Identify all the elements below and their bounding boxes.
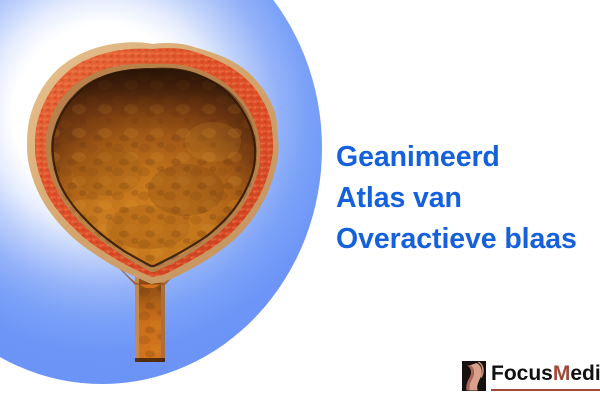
title-block: Geanimeerd Atlas van Overactieve blaas	[336, 137, 594, 260]
focus-medica-mark-icon	[462, 361, 486, 391]
focus-medica-logo[interactable]: FocusMedica	[462, 360, 600, 392]
logo-word-medica-rest: edica	[570, 362, 600, 385]
slide-root: Geanimeerd Atlas van Overactieve blaas F…	[0, 0, 600, 400]
focus-medica-wordmark: FocusMedica	[491, 362, 600, 391]
title-line-3: Overactieve blaas	[336, 219, 594, 260]
logo-word-focus: Focus	[491, 362, 553, 385]
bladder-illustration	[8, 22, 298, 362]
bladder-illustration-svg	[8, 22, 298, 362]
title-line-2: Atlas van	[336, 178, 594, 219]
title-line-1: Geanimeerd	[336, 137, 594, 178]
logo-word-medica-initial: M	[553, 362, 571, 385]
